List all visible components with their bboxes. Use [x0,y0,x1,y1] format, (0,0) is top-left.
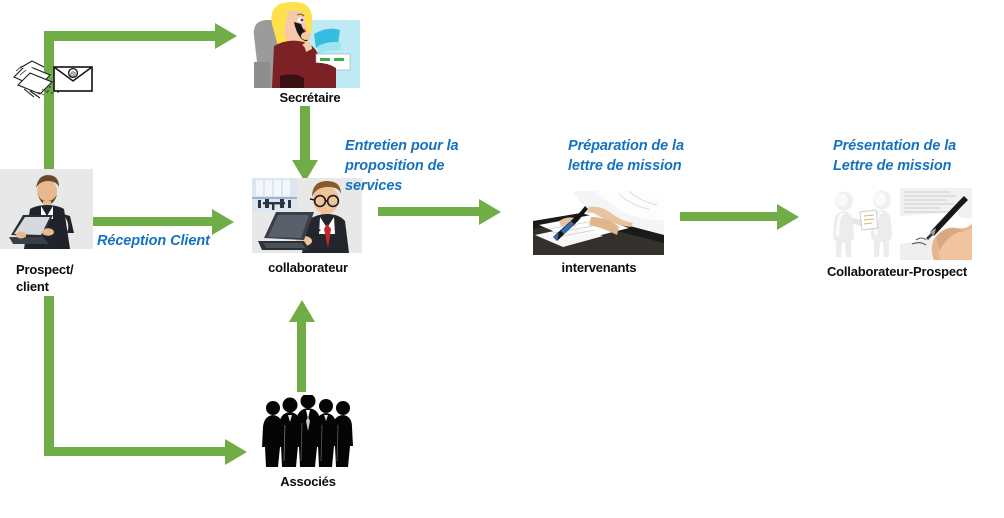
node-label-intervenants: intervenants [528,259,670,276]
node-label-prospect: Prospect/ client [16,261,126,295]
flow-label-preparation-lettre: Préparation de la lettre de mission [568,136,684,176]
arrowhead-right-icon [479,199,501,225]
associates-group-silhouette-icon [258,395,358,470]
handshake-document-signature-icon [824,188,972,260]
fax-envelope-icon: @ [8,55,96,100]
connector-segment-horizontal [378,207,482,216]
flow-label-reception-client: Réception Client [97,231,210,251]
connector-segment-vertical [300,106,310,164]
connector-segment-horizontal [44,447,228,456]
node-label-secretaire: Secrétaire [250,89,370,106]
flow-label-entretien-proposition: Entretien pour la proposition de service… [345,136,459,196]
svg-text:@: @ [70,72,76,78]
flow-label-presentation-lettre: Présentation de la Lettre de mission [833,136,956,176]
arrowhead-right-icon [215,23,237,49]
connector-segment-horizontal [680,212,780,221]
arrowhead-right-icon [212,209,234,235]
arrowhead-right-icon [225,439,247,465]
connector-segment-vertical [44,296,54,452]
hands-signing-document-icon [533,191,664,255]
node-label-associes: Associés [252,473,364,490]
connector-segment-horizontal [44,31,218,41]
connector-segment-horizontal [93,217,215,226]
process-flow-diagram: @ [0,0,1004,518]
arrowhead-up-icon [289,300,315,322]
node-label-collaborateur-prospect: Collaborateur-Prospect [790,263,1004,280]
node-label-collaborateur: collaborateur [248,259,368,276]
secretary-on-phone-icon [250,2,362,90]
connector-segment-vertical [297,320,306,392]
businessman-with-laptop-icon [0,169,93,249]
arrowhead-right-icon [777,204,799,230]
